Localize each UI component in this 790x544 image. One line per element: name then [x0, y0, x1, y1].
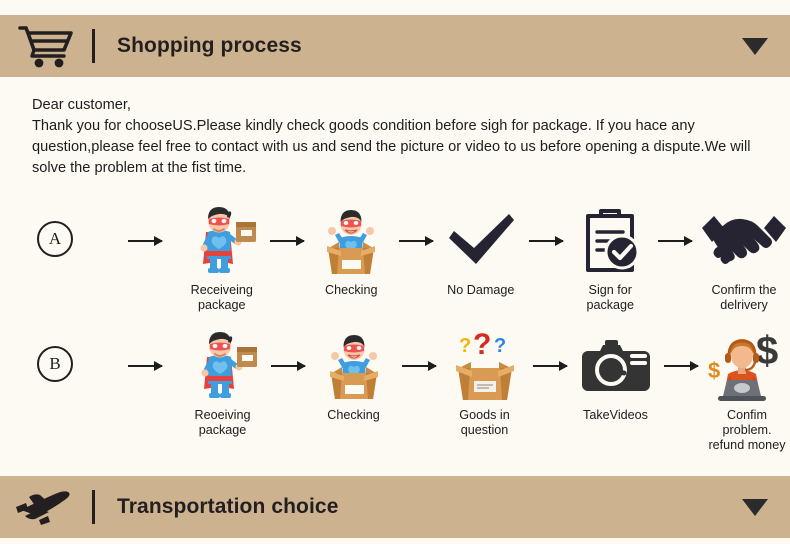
superhero-with-package-icon — [187, 328, 259, 404]
step-receiving-package-a: Receiveing package — [180, 203, 264, 313]
step-label: TakeVideos — [583, 408, 648, 423]
step-confirm-problem-refund: $ $ — [704, 328, 790, 453]
svg-text:$: $ — [756, 329, 778, 373]
support-agent-refund-icon: $ $ — [704, 328, 790, 404]
step-confirm-delivery: Confirm the delrivery — [698, 203, 790, 313]
step-label: No Damage — [447, 283, 514, 298]
arrow-icon — [652, 203, 698, 279]
chevron-down-icon-shopping[interactable] — [720, 38, 790, 55]
flow-badge-a-cell: A — [0, 203, 110, 257]
section-header-shopping-process[interactable]: Shopping process — [0, 15, 790, 77]
intro-paragraph: Dear customer, Thank you for chooseUS.Pl… — [32, 95, 762, 179]
clipboard-check-icon — [579, 203, 641, 279]
section-title-transport: Transportation choice — [117, 495, 720, 519]
step-label: Reoeiving package — [180, 408, 265, 438]
step-checking-a: Checking — [310, 203, 394, 298]
svg-text:?: ? — [459, 335, 471, 357]
header-divider — [92, 29, 95, 63]
section-header-transportation-choice[interactable]: Transportation choice — [0, 476, 790, 538]
arrow-icon — [393, 203, 439, 279]
superhero-with-package-icon — [186, 203, 258, 279]
flow-badge-b: B — [37, 346, 73, 382]
step-sign-for-package: Sign for package — [569, 203, 653, 313]
arrow-icon — [265, 328, 311, 404]
svg-text:?: ? — [494, 335, 506, 357]
step-label: Receiveing package — [180, 283, 264, 313]
header-divider — [92, 490, 95, 524]
step-checking-b: Checking — [311, 328, 396, 423]
arrow-icon — [658, 328, 704, 404]
section-title-shopping: Shopping process — [117, 34, 720, 58]
step-take-videos: TakeVideos — [573, 328, 658, 423]
arrow-icon — [110, 203, 180, 279]
step-goods-in-question: ? ? ? Goods in question — [442, 328, 527, 438]
camera-icon — [578, 328, 654, 404]
shopping-cart-icon — [0, 15, 92, 77]
svg-text:$: $ — [708, 358, 720, 383]
flow-badge-b-cell: B — [0, 328, 110, 382]
arrow-icon — [396, 328, 442, 404]
step-label: Sign for package — [569, 283, 653, 313]
chevron-down-icon-transport[interactable] — [720, 499, 790, 516]
arrow-icon — [110, 328, 180, 404]
step-label: Checking — [327, 408, 380, 423]
airplane-icon — [0, 476, 92, 538]
flow-badge-a: A — [37, 221, 73, 257]
step-label: Checking — [325, 283, 378, 298]
arrow-icon — [523, 203, 569, 279]
handshake-icon — [698, 203, 790, 279]
checkmark-icon — [443, 203, 519, 279]
step-receiving-package-b: Reoeiving package — [180, 328, 265, 438]
step-no-damage: No Damage — [439, 203, 523, 298]
person-in-open-box-icon — [318, 328, 390, 404]
svg-text:?: ? — [473, 328, 491, 361]
person-in-open-box-icon — [315, 203, 387, 279]
step-label: Confim problem. refund money — [704, 408, 790, 453]
flow-row-a: A — [0, 203, 790, 313]
step-label: Confirm the delrivery — [698, 283, 790, 313]
box-with-question-marks-icon: ? ? ? — [445, 328, 525, 404]
arrow-icon — [527, 328, 573, 404]
flow-row-b: B — [0, 328, 790, 448]
arrow-icon — [264, 203, 310, 279]
step-label: Goods in question — [442, 408, 527, 438]
